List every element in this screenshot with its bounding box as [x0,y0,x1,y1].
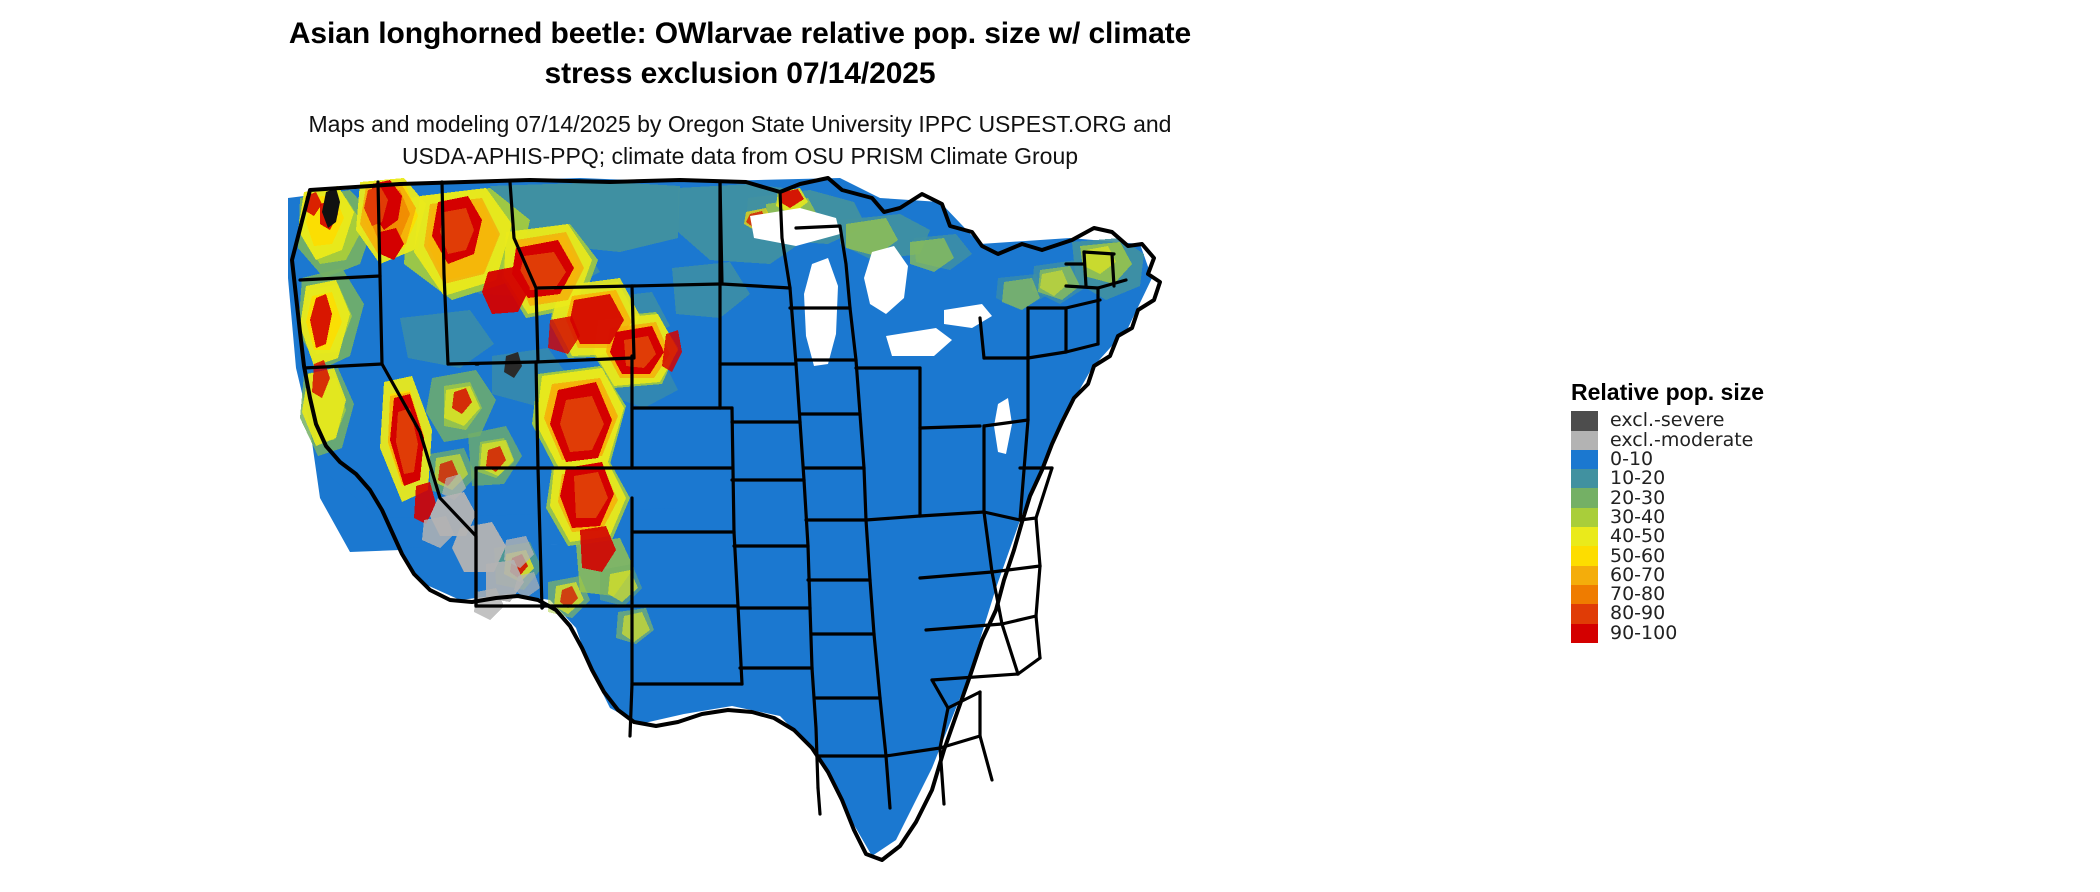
legend-swatch-10-20 [1571,469,1598,488]
legend-item[interactable]: 20-30 [1571,488,1971,507]
legend-label: 10-20 [1610,469,1665,488]
legend-swatch-50-60 [1571,546,1598,565]
legend-title: Relative pop. size [1571,380,1971,405]
legend-item[interactable]: 90-100 [1571,624,1971,643]
legend-label: 40-50 [1610,527,1665,546]
map-canvas [280,168,1180,868]
page-title: Asian longhorned beetle: OWlarvae relati… [0,14,1480,94]
legend-swatch-60-70 [1571,566,1598,585]
legend-item[interactable]: 0-10 [1571,450,1971,469]
legend-item[interactable]: excl.-moderate [1571,431,1971,450]
legend-label: excl.-severe [1610,411,1725,430]
legend-swatch-70-80 [1571,585,1598,604]
legend-item[interactable]: 50-60 [1571,546,1971,565]
legend-item[interactable]: 60-70 [1571,566,1971,585]
legend-swatch-excl-moderate [1571,431,1598,450]
legend-label: 50-60 [1610,547,1665,566]
legend-swatch-80-90 [1571,604,1598,623]
legend-item[interactable]: excl.-severe [1571,411,1971,430]
legend-label: 30-40 [1610,508,1665,527]
legend-label: 70-80 [1610,585,1665,604]
legend-label: 20-30 [1610,489,1665,508]
us-choropleth-map [280,168,1180,868]
page-subtitle: Maps and modeling 07/14/2025 by Oregon S… [0,108,1480,173]
legend-swatch-40-50 [1571,527,1598,546]
legend-item[interactable]: 70-80 [1571,585,1971,604]
legend-label: excl.-moderate [1610,431,1753,450]
legend-swatch-excl-severe [1571,411,1598,430]
legend-label: 0-10 [1610,450,1653,469]
legend-swatch-20-30 [1571,488,1598,507]
legend-item[interactable]: 10-20 [1571,469,1971,488]
legend-swatch-90-100 [1571,624,1598,643]
legend-swatch-30-40 [1571,508,1598,527]
legend-item[interactable]: 40-50 [1571,527,1971,546]
legend-label: 60-70 [1610,566,1665,585]
map-legend: Relative pop. size excl.-severe excl.-mo… [1571,380,1971,643]
legend-item[interactable]: 80-90 [1571,604,1971,623]
legend-item[interactable]: 30-40 [1571,508,1971,527]
legend-label: 80-90 [1610,604,1665,623]
legend-label: 90-100 [1610,624,1677,643]
map-figure: Asian longhorned beetle: OWlarvae relati… [0,0,2100,892]
legend-swatch-0-10 [1571,450,1598,469]
title-block: Asian longhorned beetle: OWlarvae relati… [0,14,1480,173]
